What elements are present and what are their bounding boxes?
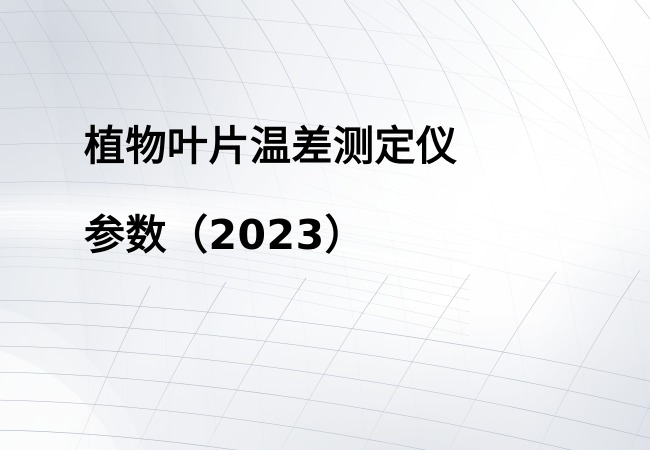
title-slide: 植物叶片温差测定仪 参数（2023） <box>0 0 650 450</box>
title-line-1: 植物叶片温差测定仪 <box>84 126 554 167</box>
slide-title: 植物叶片温差测定仪 参数（2023） <box>84 126 554 256</box>
title-line-2: 参数（2023） <box>84 215 554 256</box>
